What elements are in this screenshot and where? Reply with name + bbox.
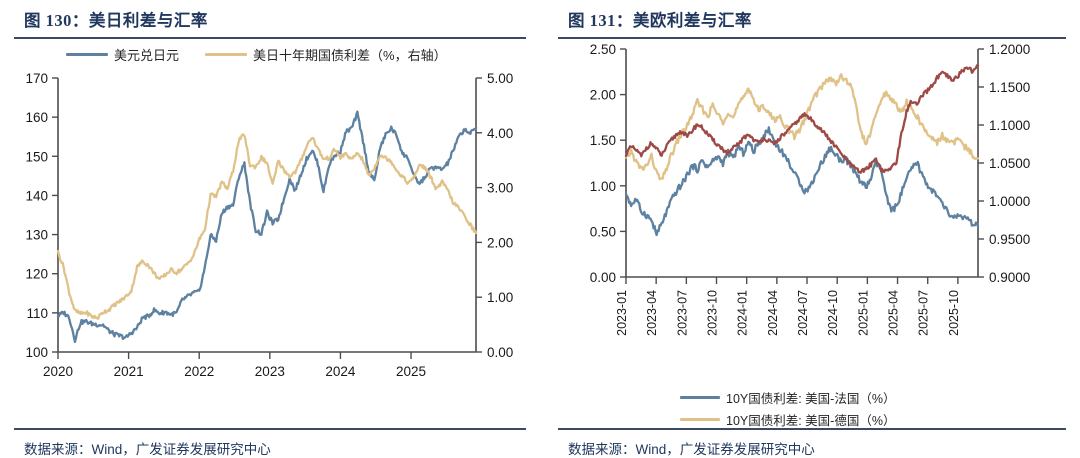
x-tick-label-130: 2022 (184, 364, 214, 379)
left-tick-label-130: 110 (26, 306, 48, 321)
legend-label-us-fr-spread: 10Y国债利差: 美国-法国（%） (726, 388, 895, 407)
figure-title-131: 图 131：美欧利差与汇率 (558, 0, 1066, 37)
figure-title-130: 图 130：美日利差与汇率 (14, 0, 526, 37)
legend-item-us-de-spread: 10Y国债利差: 美国-德国（%） (680, 410, 895, 428)
source-note-130: 数据来源：Wind，广发证券发展研究中心 (14, 430, 526, 458)
chart-body-130: 美元兑日元 美日十年期国债利差（%，右轴） 100110120130140150… (14, 39, 526, 428)
x-tick-label-131: 2024-04 (766, 290, 780, 336)
x-tick-label-131: 2024-01 (736, 290, 750, 336)
left-tick-label-131: 0.00 (590, 270, 616, 285)
left-tick-label-130: 160 (25, 110, 48, 125)
chart-130-plot: 1001101201301401501601700.001.002.003.00… (14, 64, 526, 394)
right-tick-label-131: 1.1500 (989, 80, 1030, 95)
left-tick-label-130: 120 (25, 267, 48, 282)
right-tick-label-130: 2.00 (487, 235, 513, 250)
source-note-131: 数据来源：Wind，广发证券发展研究中心 (558, 430, 1066, 458)
series-line-us-jp-spread (58, 135, 476, 319)
right-tick-label-130: 5.00 (487, 71, 513, 86)
x-tick-label-131: 2025-10 (947, 290, 961, 336)
chart-131-plot: 0.000.501.001.502.002.500.90000.95001.00… (558, 39, 1058, 384)
right-tick-label-131: 1.0000 (989, 194, 1030, 209)
right-tick-label-131: 1.1000 (989, 118, 1030, 133)
right-tick-label-130: 3.00 (487, 181, 513, 196)
source-prefix-131: 数据来源： (568, 442, 636, 457)
source-wind-131: Wind (636, 442, 667, 457)
x-tick-label-131: 2024-10 (826, 290, 840, 336)
x-tick-label-130: 2024 (325, 364, 356, 379)
x-tick-label-130: 2023 (255, 364, 285, 379)
legend-130: 美元兑日元 美日十年期国债利差（%，右轴） (14, 39, 526, 64)
chart-body-131: 0.000.501.001.502.002.500.90000.95001.00… (558, 39, 1066, 428)
left-tick-label-131: 2.50 (590, 42, 616, 57)
x-tick-label-131: 2023-10 (706, 290, 720, 336)
legend-131: 10Y国债利差: 美国-法国（%） 10Y国债利差: 美国-德国（%） (558, 384, 1066, 428)
right-tick-label-131: 0.9500 (989, 232, 1030, 247)
series-line-eurusd (626, 65, 978, 172)
source-wind-130: Wind (92, 442, 123, 457)
legend-swatch-us-jp-spread (205, 53, 247, 57)
left-tick-label-130: 170 (25, 71, 48, 86)
legend-label-us-jp-spread: 美日十年期国债利差（%，右轴） (253, 45, 447, 64)
right-tick-label-130: 0.00 (487, 345, 513, 360)
right-tick-label-131: 1.0500 (989, 156, 1030, 171)
left-tick-label-130: 140 (25, 188, 48, 203)
x-tick-label-131: 2023-07 (675, 290, 689, 336)
x-tick-label-131: 2024-07 (796, 290, 810, 336)
left-tick-label-130: 150 (25, 149, 48, 164)
right-tick-label-130: 1.00 (487, 290, 513, 305)
figure-panel-131: 图 131：美欧利差与汇率 0.000.501.001.502.002.500.… (540, 0, 1080, 458)
legend-item-us-jp-spread: 美日十年期国债利差（%，右轴） (205, 45, 447, 64)
x-tick-label-131: 2023-01 (615, 290, 629, 336)
left-tick-label-131: 2.00 (590, 88, 616, 103)
source-suffix-131: ，广发证券发展研究中心 (666, 442, 815, 457)
left-tick-label-131: 1.00 (590, 179, 616, 194)
x-tick-label-130: 2025 (396, 364, 426, 379)
left-tick-label-130: 130 (25, 228, 48, 243)
legend-swatch-us-fr-spread (680, 396, 720, 400)
right-tick-label-131: 0.9000 (989, 270, 1030, 285)
figure-panel-130: 图 130：美日利差与汇率 美元兑日元 美日十年期国债利差（%，右轴） 1001… (0, 0, 540, 458)
x-tick-label-131: 2023-04 (645, 290, 659, 336)
x-tick-label-130: 2021 (114, 364, 144, 379)
left-tick-label-131: 0.50 (590, 224, 616, 239)
right-tick-label-131: 1.2000 (989, 42, 1030, 57)
x-tick-label-130: 2020 (43, 364, 73, 379)
left-tick-label-131: 1.50 (590, 133, 616, 148)
source-prefix-130: 数据来源： (24, 442, 92, 457)
legend-swatch-us-de-spread (680, 418, 720, 422)
left-tick-label-130: 100 (25, 345, 48, 360)
legend-label-usdjpy: 美元兑日元 (114, 45, 179, 64)
legend-item-usdjpy: 美元兑日元 (66, 45, 179, 64)
series-line-usdjpy (58, 112, 476, 342)
legend-item-us-fr-spread: 10Y国债利差: 美国-法国（%） (680, 388, 895, 407)
x-tick-label-131: 2025-04 (887, 290, 901, 336)
figure-sheet: 图 130：美日利差与汇率 美元兑日元 美日十年期国债利差（%，右轴） 1001… (0, 0, 1080, 458)
right-tick-label-130: 4.00 (487, 126, 513, 141)
legend-swatch-usdjpy (66, 53, 108, 57)
legend-label-us-de-spread: 10Y国债利差: 美国-德国（%） (726, 410, 895, 428)
source-suffix-130: ，广发证券发展研究中心 (122, 442, 271, 457)
x-tick-label-131: 2025-07 (917, 290, 931, 336)
x-tick-label-131: 2025-01 (856, 290, 870, 336)
